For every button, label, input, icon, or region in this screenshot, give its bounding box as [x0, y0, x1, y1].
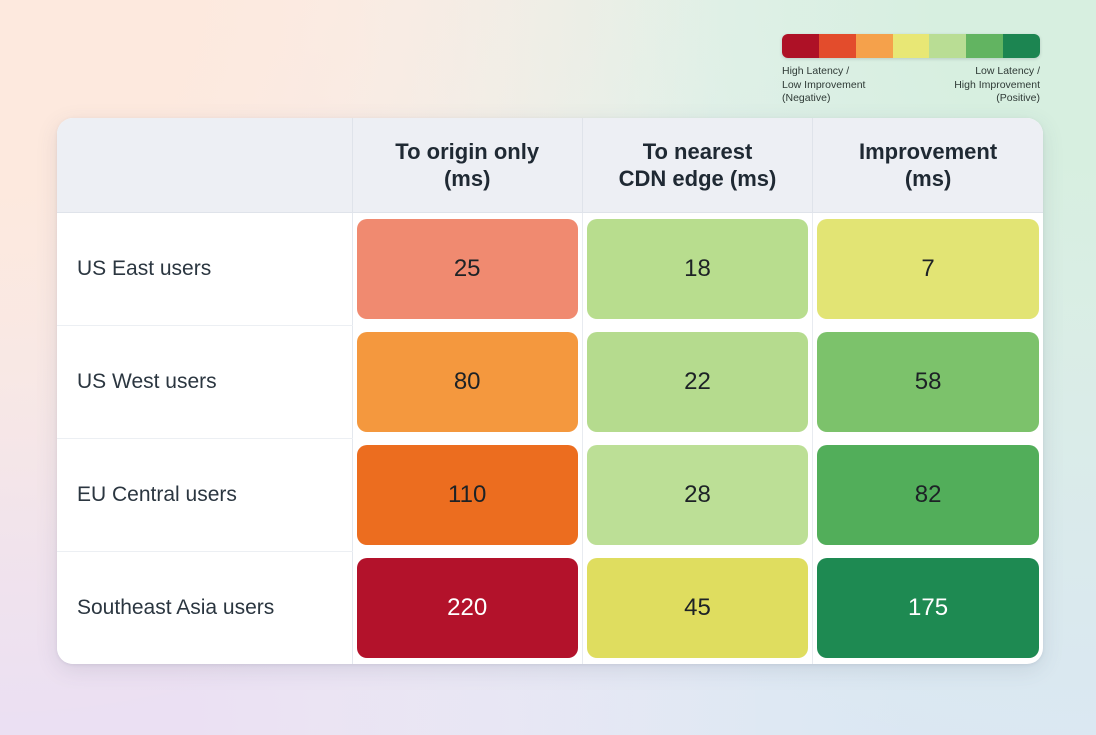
heatmap-value-3-0: 220	[357, 558, 578, 658]
latency-comparison-table: To origin only (ms) To nearest CDN edge …	[57, 118, 1043, 664]
heatmap-cell: 45	[582, 551, 812, 664]
table-row: Southeast Asia users22045175	[57, 551, 1043, 664]
column-header-origin: To origin only (ms)	[352, 118, 582, 212]
heatmap-value-2-2: 82	[817, 445, 1039, 545]
column-header-improvement: Improvement (ms)	[813, 118, 1043, 212]
row-label-1: US West users	[57, 325, 352, 438]
heatmap-value-2-1: 28	[587, 445, 808, 545]
heatmap-value-3-1: 45	[587, 558, 808, 658]
legend-swatch-1	[819, 34, 856, 58]
heatmap-value-3-2: 175	[817, 558, 1039, 658]
corner-header-cell	[57, 118, 352, 212]
heatmap-value-0-0: 25	[357, 219, 578, 319]
table-header: To origin only (ms) To nearest CDN edge …	[57, 118, 1043, 212]
heatmap-cell: 28	[582, 438, 812, 551]
heatmap-cell: 7	[813, 212, 1043, 325]
legend-swatch-6	[1003, 34, 1040, 58]
heatmap-cell: 58	[813, 325, 1043, 438]
legend-swatch-0	[782, 34, 819, 58]
heatmap-value-0-1: 18	[587, 219, 808, 319]
table-body: US East users25187US West users802258EU …	[57, 212, 1043, 664]
heatmap-card: To origin only (ms) To nearest CDN edge …	[57, 118, 1043, 664]
heatmap-value-2-0: 110	[357, 445, 578, 545]
row-label-2: EU Central users	[57, 438, 352, 551]
legend-swatch-4	[929, 34, 966, 58]
column-header-cdn-edge: To nearest CDN edge (ms)	[582, 118, 812, 212]
table-row: US East users25187	[57, 212, 1043, 325]
heatmap-cell: 22	[582, 325, 812, 438]
row-label-3: Southeast Asia users	[57, 551, 352, 664]
heatmap-cell: 82	[813, 438, 1043, 551]
color-scale-labels: High Latency / Low Improvement (Negative…	[782, 65, 1040, 106]
heatmap-cell: 110	[352, 438, 582, 551]
heatmap-value-0-2: 7	[817, 219, 1039, 319]
heatmap-cell: 220	[352, 551, 582, 664]
legend-swatch-3	[893, 34, 930, 58]
table-row: EU Central users1102882	[57, 438, 1043, 551]
color-scale-bar	[782, 34, 1040, 58]
heatmap-cell: 80	[352, 325, 582, 438]
heatmap-cell: 175	[813, 551, 1043, 664]
heatmap-value-1-1: 22	[587, 332, 808, 432]
legend-swatch-5	[966, 34, 1003, 58]
heatmap-value-1-0: 80	[357, 332, 578, 432]
heatmap-value-1-2: 58	[817, 332, 1039, 432]
heatmap-cell: 25	[352, 212, 582, 325]
table-row: US West users802258	[57, 325, 1043, 438]
legend-low-label: High Latency / Low Improvement (Negative…	[782, 65, 865, 106]
legend-high-label: Low Latency / High Improvement (Positive…	[954, 65, 1040, 106]
row-label-0: US East users	[57, 212, 352, 325]
header-row: To origin only (ms) To nearest CDN edge …	[57, 118, 1043, 212]
legend-swatch-2	[856, 34, 893, 58]
heatmap-cell: 18	[582, 212, 812, 325]
color-scale-legend: High Latency / Low Improvement (Negative…	[782, 34, 1040, 106]
